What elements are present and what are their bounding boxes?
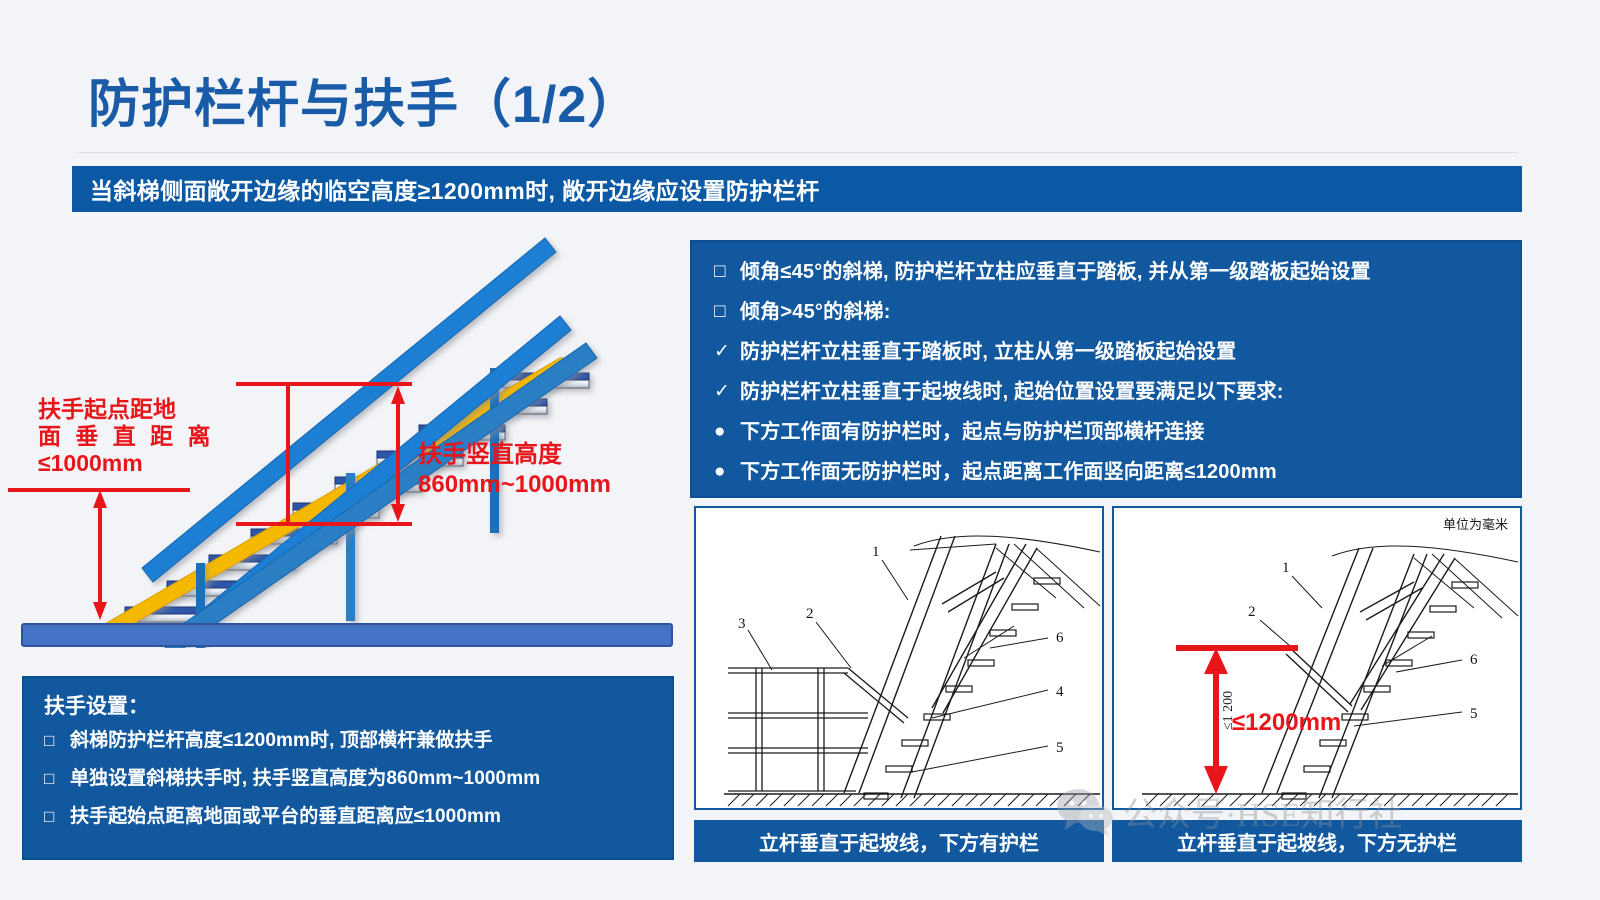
callout-4: 4 <box>1056 684 1064 700</box>
rule-item-2: ✓ 防护栏杆立柱垂直于踏板时, 立柱从第一级踏板起始设置 <box>692 332 1520 372</box>
handrail-panel-title: 扶手设置： <box>24 678 672 722</box>
rule-marker-bullet-icon: ● <box>714 412 740 452</box>
rule-text-4: 下方工作面有防护栏时，起点与防护栏顶部横杆连接 <box>740 412 1205 452</box>
callout-6: 6 <box>1470 652 1478 668</box>
rule-item-1: □ 倾角>45°的斜梯: <box>692 292 1520 332</box>
unit-note: 单位为毫米 <box>1443 514 1508 533</box>
drawing-caption-1-text: 立杆垂直于起坡线，下方有护栏 <box>759 827 1039 856</box>
callout-5: 5 <box>1056 740 1064 756</box>
ground-slab <box>22 624 672 646</box>
rule-text-0: 倾角≤45°的斜梯, 防护栏杆立柱应垂直于踏板, 并从第一级踏板起始设置 <box>740 252 1371 292</box>
title-divider <box>78 152 1518 153</box>
rule-item-5: ● 下方工作面无防护栏时，起点距离工作面竖向距离≤1200mm <box>692 452 1520 492</box>
handrail-item-1: □ 单独设置斜梯扶手时, 扶手竖直高度为860mm~1000mm <box>24 760 672 798</box>
handrail-text-0: 斜梯防护栏杆高度≤1200mm时, 顶部横杆兼做扶手 <box>70 722 493 760</box>
handrail-item-2: □ 扶手起始点距离地面或平台的垂直距离应≤1000mm <box>24 798 672 836</box>
annotation-start-height: 扶手起点距地 面 垂 直 距 离 ≤1000mm <box>38 396 215 477</box>
callout-1: 1 <box>872 544 880 560</box>
handrail-panel: 扶手设置： □ 斜梯防护栏杆高度≤1200mm时, 顶部横杆兼做扶手 □ 单独设… <box>22 676 674 860</box>
drawing-body-1: 1 2 3 6 4 5 <box>694 506 1104 810</box>
callout-2: 2 <box>1248 604 1256 620</box>
annotation-handrail-height-line1: 扶手竖直高度 <box>418 440 611 470</box>
rule-marker-check-icon: ✓ <box>714 372 740 412</box>
slide-root: 防护栏杆与扶手（1/2） 当斜梯侧面敞开边缘的临空高度≥1200mm时, 敞开边… <box>0 0 1600 900</box>
drawing-caption-2: 立杆垂直于起坡线，下方无护栏 <box>1112 820 1522 862</box>
rule-item-3: ✓ 防护栏杆立柱垂直于起坡线时, 起始位置设置要满足以下要求: <box>692 372 1520 412</box>
callout-1: 1 <box>1282 560 1290 576</box>
drawing-svg-2: ≤1 200 ≤1200mm 1 2 6 5 <box>1114 508 1520 808</box>
handrail-text-2: 扶手起始点距离地面或平台的垂直距离应≤1000mm <box>70 798 501 836</box>
handrail-marker-square-icon: □ <box>44 722 70 760</box>
drawing-caption-2-text: 立杆垂直于起坡线，下方无护栏 <box>1177 827 1457 856</box>
dimension-arrow-up-right <box>391 386 405 404</box>
rule-marker-bullet-icon: ● <box>714 452 740 492</box>
rule-item-0: □ 倾角≤45°的斜梯, 防护栏杆立柱应垂直于踏板, 并从第一级踏板起始设置 <box>692 252 1520 292</box>
handrail-item-0: □ 斜梯防护栏杆高度≤1200mm时, 顶部横杆兼做扶手 <box>24 722 672 760</box>
dimension-arrow-down-left <box>93 602 107 620</box>
rule-marker-square-icon: □ <box>714 252 740 292</box>
callout-2: 2 <box>806 606 814 622</box>
rule-text-5: 下方工作面无防护栏时，起点距离工作面竖向距离≤1200mm <box>740 452 1277 492</box>
annotation-start-height-line2: 面 垂 直 距 离 <box>38 423 215 450</box>
dimension-arrow-up <box>1204 648 1228 674</box>
rule-marker-square-icon: □ <box>714 292 740 332</box>
handrail-text-1: 单独设置斜梯扶手时, 扶手竖直高度为860mm~1000mm <box>70 760 540 798</box>
rule-text-2: 防护栏杆立柱垂直于踏板时, 立柱从第一级踏板起始设置 <box>740 332 1236 372</box>
dimension-red-label: ≤1200mm <box>1232 709 1341 736</box>
callout-3: 3 <box>738 616 746 632</box>
page-title: 防护栏杆与扶手（1/2） <box>88 62 640 137</box>
callout-6: 6 <box>1056 630 1064 646</box>
annotation-start-height-line1: 扶手起点距地 <box>38 396 215 423</box>
drawing-body-2: ≤1 200 ≤1200mm 1 2 6 5 单位为毫米 <box>1112 506 1522 810</box>
annotation-handrail-height-line2: 860mm~1000mm <box>418 470 611 500</box>
rule-item-4: ● 下方工作面有防护栏时，起点与防护栏顶部横杆连接 <box>692 412 1520 452</box>
dimension-arrow-down <box>1204 766 1228 794</box>
drawing-card-without-guardrail: ≤1 200 ≤1200mm 1 2 6 5 单位为毫米 立杆垂直于起坡线，下方… <box>1112 506 1522 862</box>
callout-5: 5 <box>1470 706 1478 722</box>
annotation-handrail-height: 扶手竖直高度 860mm~1000mm <box>418 440 611 500</box>
rule-marker-check-icon: ✓ <box>714 332 740 372</box>
annotation-start-height-line3: ≤1000mm <box>38 450 215 477</box>
rule-text-3: 防护栏杆立柱垂直于起坡线时, 起始位置设置要满足以下要求: <box>740 372 1284 412</box>
top-banner-text: 当斜梯侧面敞开边缘的临空高度≥1200mm时, 敞开边缘应设置防护栏杆 <box>72 172 819 206</box>
top-banner: 当斜梯侧面敞开边缘的临空高度≥1200mm时, 敞开边缘应设置防护栏杆 <box>72 166 1522 212</box>
drawing-card-with-guardrail: 1 2 3 6 4 5 立杆垂直于起坡线，下方有护栏 <box>694 506 1104 862</box>
drawing-svg-1: 1 2 3 6 4 5 <box>696 508 1102 808</box>
dimension-arrow-up-left <box>93 490 107 508</box>
rules-panel: □ 倾角≤45°的斜梯, 防护栏杆立柱应垂直于踏板, 并从第一级踏板起始设置 □… <box>690 240 1522 498</box>
rule-text-1: 倾角>45°的斜梯: <box>740 292 891 332</box>
drawing-caption-1: 立杆垂直于起坡线，下方有护栏 <box>694 820 1104 862</box>
handrail-marker-square-icon: □ <box>44 798 70 836</box>
handrail-marker-square-icon: □ <box>44 760 70 798</box>
